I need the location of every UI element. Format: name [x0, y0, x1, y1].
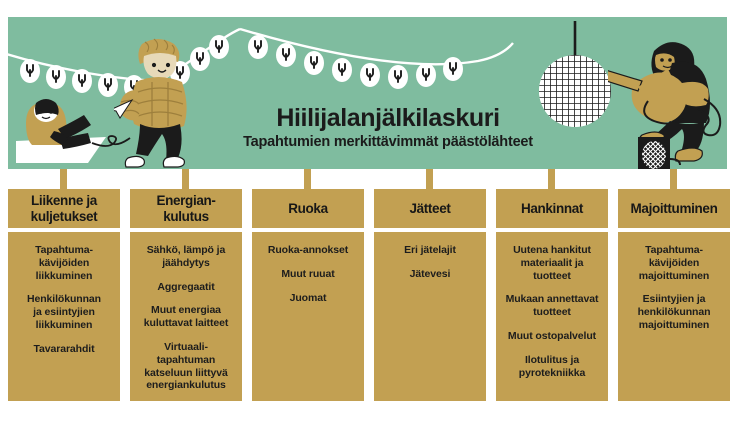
column-body: Uutena hankitutmateriaalit jatuotteet Mu… — [496, 232, 608, 401]
category-column-jatteet[interactable]: Jätteet Eri jätelajit Jätevesi — [374, 189, 486, 401]
column-body: Ruoka-annokset Muut ruuat Juomat — [252, 232, 364, 401]
hero-banner: Hiilijalanjälkilaskuri Tapahtumien merki… — [8, 17, 727, 169]
column-header: Jätteet — [374, 189, 486, 228]
column-body: Sähkö, lämpö jajäähdytys Aggregaatit Muu… — [130, 232, 242, 401]
infographic-page: Hiilijalanjälkilaskuri Tapahtumien merki… — [0, 0, 735, 423]
list-item: Muut ruuat — [258, 268, 358, 281]
guitarist-icon — [608, 29, 727, 169]
connector-stem-5 — [548, 169, 555, 189]
column-body: Tapahtuma-kävijöidenmajoittuminen Esiint… — [618, 232, 730, 401]
list-item: Uutena hankitutmateriaalit jatuotteet — [502, 244, 602, 282]
list-item: Virtuaali-tapahtumankatseluun liittyväen… — [136, 341, 236, 392]
list-item: Muut ostopalvelut — [502, 330, 602, 343]
column-header: Majoittuminen — [618, 189, 730, 228]
connector-stem-2 — [182, 169, 189, 189]
category-column-ruoka[interactable]: Ruoka Ruoka-annokset Muut ruuat Juomat — [252, 189, 364, 401]
column-title: Ruoka — [288, 201, 328, 216]
column-header: Energian-kulutus — [130, 189, 242, 228]
connector-stem-3 — [304, 169, 311, 189]
connector-stem-4 — [426, 169, 433, 189]
column-title: Energian-kulutus — [156, 193, 215, 223]
list-item: Aggregaatit — [136, 281, 236, 294]
list-item: Eri jätelajit — [380, 244, 480, 257]
page-subtitle: Tapahtumien merkittävimmät päästölähteet — [198, 134, 578, 150]
category-column-liikenne-ja-kuljetukset[interactable]: Liikenne ja kuljetukset Tapahtuma-kävijö… — [8, 189, 120, 401]
list-item: Tapahtuma-kävijöidenmajoittuminen — [624, 244, 724, 282]
banner-title-block: Hiilijalanjälkilaskuri Tapahtumien merki… — [198, 105, 578, 150]
column-title: Jätteet — [409, 201, 450, 216]
column-header: Hankinnat — [496, 189, 608, 228]
list-item: Ilotulitus japyrotekniikka — [502, 354, 602, 380]
column-header: Liikenne ja kuljetukset — [8, 189, 120, 228]
category-column-majoittuminen[interactable]: Majoittuminen Tapahtuma-kävijöidenmajoit… — [618, 189, 730, 401]
column-header: Ruoka — [252, 189, 364, 228]
column-body: Eri jätelajit Jätevesi — [374, 232, 486, 401]
column-title: Liikenne ja kuljetukset — [12, 193, 116, 223]
list-item: Henkilökunnanja esiintyjienliikkuminen — [14, 293, 114, 331]
column-title: Majoittuminen — [631, 201, 718, 216]
category-column-energiankulutus[interactable]: Energian-kulutus Sähkö, lämpö jajäähdyty… — [130, 189, 242, 401]
connector-stem-1 — [60, 169, 67, 189]
connector-stem-6 — [670, 169, 677, 189]
list-item: Tavararahdit — [14, 343, 114, 356]
list-item: Mukaan annettavattuotteet — [502, 293, 602, 319]
list-item: Esiintyjien jahenkilökunnanmajoittuminen — [624, 293, 724, 331]
list-item: Tapahtuma-kävijöidenliikkuminen — [14, 244, 114, 282]
column-title: Hankinnat — [521, 201, 583, 216]
list-item: Ruoka-annokset — [258, 244, 358, 257]
column-body: Tapahtuma-kävijöidenliikkuminen Henkilök… — [8, 232, 120, 401]
list-item: Muut energiaakuluttavat laitteet — [136, 304, 236, 330]
page-title: Hiilijalanjälkilaskuri — [198, 105, 578, 131]
list-item: Juomat — [258, 292, 358, 305]
list-item: Sähkö, lämpö jajäähdytys — [136, 244, 236, 270]
category-column-hankinnat[interactable]: Hankinnat Uutena hankitutmateriaalit jat… — [496, 189, 608, 401]
list-item: Jätevesi — [380, 268, 480, 281]
